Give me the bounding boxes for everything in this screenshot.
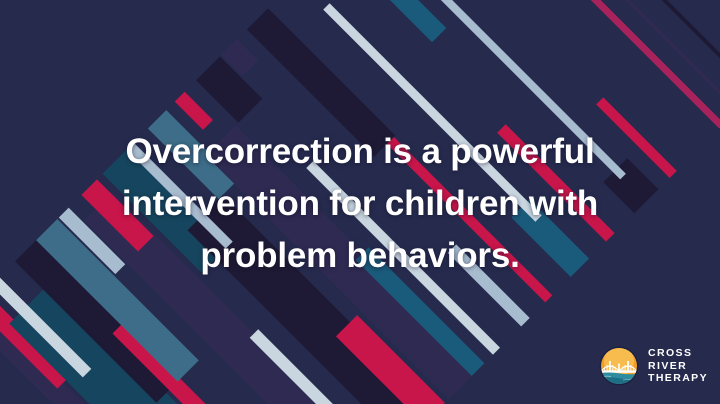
wordmark-line-river: RIVER [648, 360, 708, 373]
quote-line-1: Overcorrection is a powerful [46, 126, 674, 178]
quote-graphic-canvas: Overcorrection is a powerful interventio… [0, 0, 720, 404]
brand-wordmark: CROSS RIVER THERAPY [648, 347, 708, 385]
quote-line-3: problem behaviors. [46, 230, 674, 282]
quote-text: Overcorrection is a powerful interventio… [0, 126, 720, 282]
bridge-sun-badge-icon [599, 346, 639, 386]
quote-line-2: intervention for children with [46, 178, 674, 230]
brand-logo: CROSS RIVER THERAPY [599, 346, 708, 386]
wordmark-line-cross: CROSS [648, 347, 708, 360]
wordmark-line-therapy: THERAPY [648, 372, 708, 385]
